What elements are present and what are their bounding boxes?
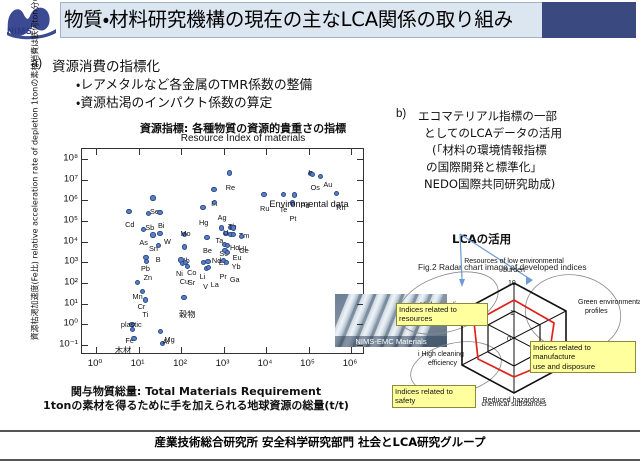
y-tick (82, 324, 88, 325)
section-a-heading: 資源消費の指標化 (52, 55, 160, 75)
section-b-line-2: としてのLCAデータの活用 (424, 125, 562, 141)
scatter-point (140, 289, 145, 294)
x-tick (351, 149, 352, 155)
scatter-point-label: Mo (180, 229, 190, 238)
radar-tick-1: 1 (510, 310, 514, 317)
scatter-point (182, 244, 187, 249)
scatter-point (131, 336, 136, 341)
scatter-point-label: 木材 (115, 344, 131, 356)
scatter-point-label: V (203, 282, 208, 291)
slide-root: NIMS 物質・材料研究機構の現在の主なLCA関係の取り組み a) 資源消費の指… (0, 0, 640, 457)
scatter-point (239, 234, 244, 239)
scatter-caption-en: Resource Index of materials (108, 133, 378, 144)
radar-axis-label-cleaning-2: efficiency (428, 360, 458, 367)
section-b-label: b) (396, 108, 406, 120)
scatter-point (206, 265, 211, 270)
scatter-point (227, 170, 232, 175)
y-tick-label: 10⁻¹ (59, 339, 78, 350)
section-b-line-3: (「材料の環境情報指標 (432, 142, 547, 158)
x-tick-label: 10³ (216, 358, 230, 369)
scatter-point (150, 232, 155, 237)
y-tick (357, 304, 363, 305)
y-tick-label: 10⁷ (64, 173, 78, 184)
scatter-point (181, 295, 186, 300)
y-tick (357, 283, 363, 284)
scatter-point-label: Bi (158, 221, 165, 230)
section-b-line-5: NEDO国際共同研究助成) (424, 176, 555, 192)
y-tick (82, 200, 88, 201)
y-tick (82, 242, 88, 243)
y-tick-label: 10⁶ (63, 194, 78, 205)
scatter-point-label: 穀物 (179, 308, 195, 320)
scatter-point (158, 329, 163, 334)
callout-resources: Indices related to resources (396, 303, 488, 326)
y-tick-label: 10¹ (64, 297, 78, 308)
scatter-point (231, 225, 236, 230)
scatter-point-label: Li (200, 272, 206, 281)
y-tick (82, 345, 88, 346)
scatter-point (204, 235, 209, 240)
scatter-point (205, 259, 210, 264)
x-tick (266, 347, 267, 353)
y-tick (357, 345, 363, 346)
x-tick-label: 10² (173, 358, 187, 369)
scatter-point-label: Ti (142, 310, 148, 319)
scatter-point (310, 172, 315, 177)
y-tick (82, 180, 88, 181)
radar-axis-label-green: Green environmental (578, 299, 640, 306)
y-tick-label: 10² (64, 277, 78, 288)
scatter-point (157, 231, 162, 236)
scatter-point (146, 211, 151, 216)
y-tick (357, 221, 363, 222)
radar-axis-label-resources: Resources of low environmental (464, 258, 564, 265)
y-tick-label: 10⁸ (63, 153, 78, 164)
resource-index-scatter-chart: 資源枯渇加速度(Fe比) relative acceleration rate … (24, 146, 368, 368)
radar-axis-label-hazardous-2: chemical substances (482, 401, 547, 408)
section-b-line-1: エコマテリアル指標の一部 (418, 108, 557, 124)
scatter-point-label: Yb (232, 262, 241, 271)
scatter-point-label: B (156, 255, 161, 264)
x-tick-label: 10⁵ (300, 358, 315, 369)
page-title: 物質・材料研究機構の現在の主なLCA関係の取り組み (64, 4, 584, 36)
x-tick (309, 347, 310, 353)
scatter-point-label: Pr (220, 272, 227, 281)
x-tick-label: 10⁴ (258, 358, 273, 369)
scatter-point (141, 227, 146, 232)
y-tick (82, 304, 88, 305)
scatter-point (135, 280, 140, 285)
scatter-x-axis-title-2: 1tonの素材を得るために手を加えられる地球資源の総量(t/t) (18, 397, 374, 413)
slide-header: NIMS 物質・材料研究機構の現在の主なLCA関係の取り組み (0, 0, 640, 40)
scatter-point-label: Zn (144, 273, 153, 282)
scatter-point-label: La (211, 280, 219, 289)
x-tick (139, 347, 140, 353)
y-tick (82, 283, 88, 284)
scatter-point-label: Pb (141, 264, 150, 273)
scatter-point-label: Mg (165, 335, 175, 344)
scatter-point-label: W (164, 237, 171, 246)
x-tick (139, 149, 140, 155)
scatter-point-label: Co (187, 268, 196, 277)
y-tick-label: 10⁰ (63, 318, 78, 329)
y-tick (82, 159, 88, 160)
y-tick (82, 262, 88, 263)
x-tick (181, 347, 182, 353)
scatter-point-label: Be (203, 246, 212, 255)
scatter-point-label: Cd (125, 220, 134, 229)
scatter-point (224, 260, 229, 265)
scatter-point (225, 250, 230, 255)
radar-tick-0: 0 (507, 336, 511, 343)
section-a-bullet-2: ・資源枯渇のインパクト係数の算定 (76, 92, 272, 111)
scatter-point-label: Hg (199, 218, 208, 227)
scatter-point (261, 192, 266, 197)
x-tick (351, 347, 352, 353)
scatter-point (292, 192, 297, 197)
scatter-x-axis-ticklabels: 10⁰10¹10²10³10⁴10⁵10⁶ (81, 358, 364, 372)
scatter-point-label: Ag (218, 213, 227, 222)
radar-axis-label-cleaning: i High cleaning (418, 351, 464, 358)
scatter-point-label: Ga (230, 275, 240, 284)
scatter-y-axis-ticklabels: 10⁻¹10⁰10¹10²10³10⁴10⁵10⁶10⁷10⁸ (24, 146, 78, 356)
scatter-point-label: Re (226, 183, 235, 192)
y-tick (357, 180, 363, 181)
scatter-point (157, 210, 162, 215)
scatter-point (211, 187, 216, 192)
x-tick (96, 149, 97, 155)
scatter-point (334, 191, 339, 196)
scatter-point (150, 195, 155, 200)
x-tick-label: 10⁰ (88, 358, 103, 369)
y-tick (357, 159, 363, 160)
scatter-point-label: As (139, 238, 148, 247)
x-tick-label: 10¹ (131, 358, 145, 369)
scatter-point-label: Sr (188, 278, 195, 287)
x-tick-label: 10⁶ (343, 358, 358, 369)
scatter-point (126, 209, 131, 214)
y-tick-label: 10³ (64, 256, 78, 267)
scatter-point (156, 243, 161, 248)
y-tick (82, 221, 88, 222)
scatter-point (318, 174, 323, 179)
scatter-point-label: Os (311, 183, 320, 192)
x-tick (181, 149, 182, 155)
y-tick (357, 262, 363, 263)
x-tick (224, 149, 225, 155)
radar-tick-10: 10 (508, 280, 516, 287)
scatter-point-label: Ge (239, 246, 249, 255)
x-tick (266, 149, 267, 155)
section-b-line-4: の国際開発と標準化」 (426, 159, 542, 175)
scatter-plot-area: CdSeSbBiAsSnWBPbZnMnCrTiplasticFe木材AlMgM… (81, 148, 364, 354)
x-tick (309, 149, 310, 155)
x-tick (96, 347, 97, 353)
scatter-point-label: Sb (145, 223, 154, 232)
radar-axis-label-resources-2: burden (503, 267, 525, 274)
y-tick-label: 10⁵ (63, 215, 78, 226)
footer-text: 産業技術総合研究所 安全科学研究部門 社会とLCA研究グループ (0, 434, 640, 450)
photo-subcaption: Environmental data (253, 199, 365, 209)
nims-logo-text: NIMS (7, 26, 32, 37)
scatter-point-label: Pt (289, 214, 296, 223)
y-tick (357, 242, 363, 243)
scatter-point (143, 297, 148, 302)
y-tick (357, 324, 363, 325)
radar-axis-label-green-2: profiles (585, 308, 608, 315)
callout-manufacture: Indices related to manufacture use and d… (530, 341, 636, 373)
scatter-point-label: Au (323, 180, 332, 189)
scatter-point (231, 232, 236, 237)
callout-safety: Indices related to safety (392, 385, 476, 408)
scatter-point (200, 205, 205, 210)
y-tick-label: 10⁴ (63, 235, 78, 246)
section-a-bullet-1: ・レアメタルなど各金属のTMR係数の整備 (76, 74, 312, 93)
x-tick (224, 347, 225, 353)
scatter-point (130, 327, 135, 332)
scatter-point (281, 192, 286, 197)
